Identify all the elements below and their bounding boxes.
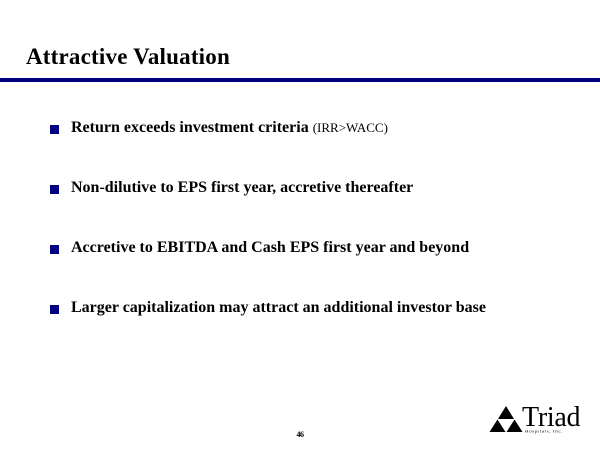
list-item-text: Larger capitalization may attract an add…: [71, 299, 486, 316]
list-item-text: Accretive to EBITDA and Cash EPS first y…: [71, 239, 469, 256]
bullet-list: Return exceeds investment criteria(IRR>W…: [50, 118, 570, 358]
list-item-text: Non-dilutive to EPS first year, accretiv…: [71, 179, 413, 196]
square-bullet-icon: [50, 185, 59, 194]
list-item: Non-dilutive to EPS first year, accretiv…: [50, 178, 570, 238]
page-title: Attractive Valuation: [26, 44, 230, 69]
list-item-label: Return exceeds investment criteria(IRR>W…: [71, 118, 388, 138]
square-bullet-icon: [50, 305, 59, 314]
company-logo: Triad Hospitals, Inc.: [489, 403, 594, 445]
square-bullet-icon: [50, 125, 59, 134]
list-item: Larger capitalization may attract an add…: [50, 298, 570, 358]
list-item-note: (IRR>WACC): [309, 120, 388, 135]
title-divider-rule: [0, 78, 600, 82]
list-item-label: Larger capitalization may attract an add…: [71, 298, 490, 318]
list-item: Accretive to EBITDA and Cash EPS first y…: [50, 238, 570, 298]
list-item-note: [413, 180, 417, 195]
list-item-label: Non-dilutive to EPS first year, accretiv…: [71, 178, 417, 198]
slide-canvas: Attractive Valuation Return exceeds inve…: [0, 0, 600, 450]
list-item-text: Return exceeds investment criteria: [71, 119, 309, 136]
list-item-note: [469, 240, 473, 255]
list-item: Return exceeds investment criteria(IRR>W…: [50, 118, 570, 178]
square-bullet-icon: [50, 245, 59, 254]
triad-triangle-icon: [489, 405, 523, 433]
list-item-note: [486, 300, 490, 315]
logo-wordmark: Triad: [522, 403, 580, 433]
list-item-label: Accretive to EBITDA and Cash EPS first y…: [71, 238, 473, 258]
logo-tagline: Hospitals, Inc.: [525, 430, 563, 435]
